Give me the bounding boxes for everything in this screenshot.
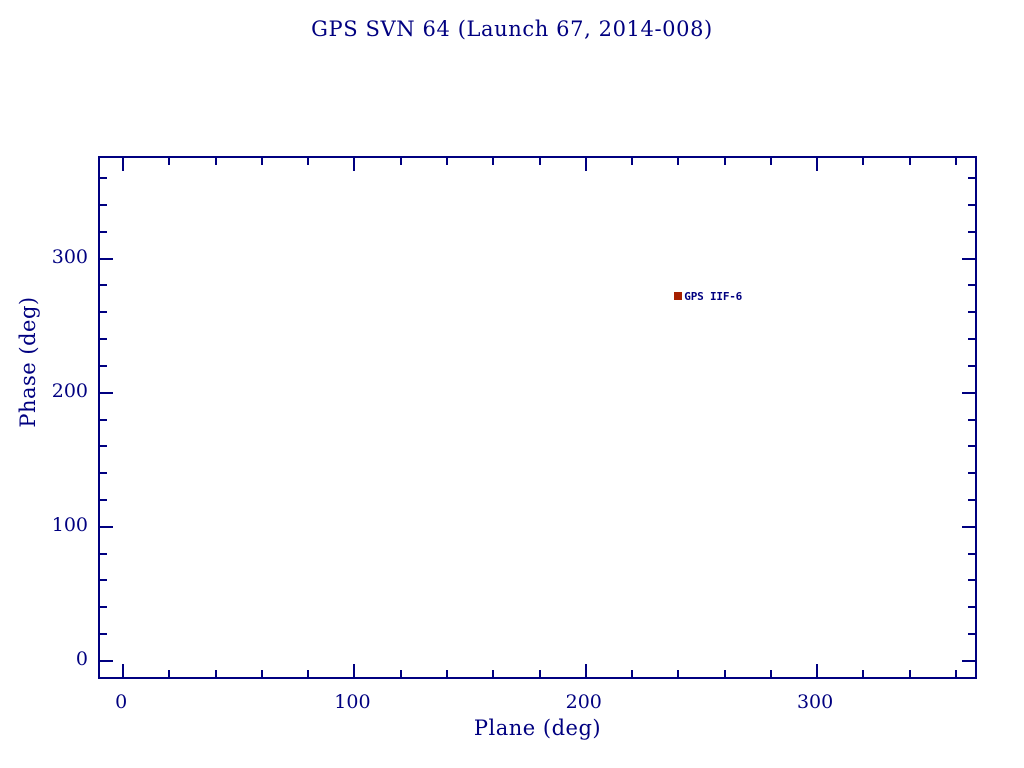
y-tick-100: [100, 526, 113, 528]
y-axis-label: Phase (deg): [16, 272, 40, 452]
y-tick-340: [100, 204, 107, 206]
x-tick-top-300: [816, 158, 818, 171]
y-tick-260: [100, 311, 107, 313]
x-tick-label-200: 200: [566, 691, 602, 713]
chart-title: GPS SVN 64 (Launch 67, 2014-008): [0, 17, 1024, 41]
y-tick-320: [100, 231, 107, 233]
y-tick-160: [100, 445, 107, 447]
x-tick-top-280: [770, 158, 772, 165]
data-point-label: GPS IIF-6: [684, 290, 742, 303]
x-tick-top-240: [677, 158, 679, 165]
y-tick-right-0: [962, 660, 975, 662]
x-tick-top-80: [307, 158, 309, 165]
y-tick-240: [100, 338, 107, 340]
x-tick-top-100: [353, 158, 355, 171]
y-tick-right-60: [968, 579, 975, 581]
x-tick-340: [909, 670, 911, 677]
x-tick-320: [862, 670, 864, 677]
y-tick-280: [100, 284, 107, 286]
x-tick-label-100: 100: [334, 691, 370, 713]
x-tick-220: [631, 670, 633, 677]
y-tick-label-200: 200: [20, 380, 88, 402]
x-tick-300: [816, 664, 818, 677]
y-tick-220: [100, 365, 107, 367]
x-tick-0: [122, 664, 124, 677]
x-tick-120: [400, 670, 402, 677]
x-tick-260: [724, 670, 726, 677]
y-tick-140: [100, 472, 107, 474]
x-tick-360: [955, 670, 957, 677]
y-tick-300: [100, 258, 113, 260]
x-tick-top-360: [955, 158, 957, 165]
x-axis-label: Plane (deg): [98, 716, 977, 740]
y-tick-right-160: [968, 445, 975, 447]
y-tick-right-120: [968, 499, 975, 501]
x-tick-label-300: 300: [797, 691, 833, 713]
x-tick-top-180: [539, 158, 541, 165]
y-tick-right-140: [968, 472, 975, 474]
y-tick-200: [100, 392, 113, 394]
x-tick-top-260: [724, 158, 726, 165]
y-tick-right-200: [962, 392, 975, 394]
y-tick-right-360: [968, 177, 975, 179]
y-tick-right-300: [962, 258, 975, 260]
y-tick-60: [100, 579, 107, 581]
y-tick-right-40: [968, 606, 975, 608]
x-tick-top-60: [261, 158, 263, 165]
y-tick-right-340: [968, 204, 975, 206]
x-tick-40: [215, 670, 217, 677]
y-tick-label-100: 100: [20, 514, 88, 536]
x-tick-top-220: [631, 158, 633, 165]
x-tick-label-0: 0: [115, 691, 127, 713]
y-tick-120: [100, 499, 107, 501]
y-tick-right-220: [968, 365, 975, 367]
x-tick-top-120: [400, 158, 402, 165]
y-tick-label-300: 300: [20, 246, 88, 268]
y-tick-right-260: [968, 311, 975, 313]
x-tick-top-200: [585, 158, 587, 171]
x-tick-top-40: [215, 158, 217, 165]
x-tick-60: [261, 670, 263, 677]
y-tick-right-80: [968, 553, 975, 555]
y-tick-right-20: [968, 633, 975, 635]
y-tick-180: [100, 419, 107, 421]
x-tick-200: [585, 664, 587, 677]
x-tick-160: [492, 670, 494, 677]
y-tick-20: [100, 633, 107, 635]
x-tick-140: [446, 670, 448, 677]
x-tick-240: [677, 670, 679, 677]
y-tick-360: [100, 177, 107, 179]
y-tick-0: [100, 660, 113, 662]
plot-area: GPS IIF-6: [98, 156, 977, 679]
y-tick-right-280: [968, 284, 975, 286]
x-tick-top-140: [446, 158, 448, 165]
x-tick-top-20: [168, 158, 170, 165]
x-tick-top-0: [122, 158, 124, 171]
y-tick-right-240: [968, 338, 975, 340]
y-tick-label-0: 0: [20, 648, 88, 670]
x-tick-180: [539, 670, 541, 677]
x-tick-100: [353, 664, 355, 677]
x-tick-top-340: [909, 158, 911, 165]
x-tick-top-320: [862, 158, 864, 165]
x-tick-80: [307, 670, 309, 677]
x-tick-top-160: [492, 158, 494, 165]
x-tick-280: [770, 670, 772, 677]
y-tick-80: [100, 553, 107, 555]
x-tick-20: [168, 670, 170, 677]
y-tick-right-320: [968, 231, 975, 233]
y-tick-40: [100, 606, 107, 608]
y-tick-right-100: [962, 526, 975, 528]
y-tick-right-180: [968, 419, 975, 421]
data-point-marker: [674, 292, 682, 300]
